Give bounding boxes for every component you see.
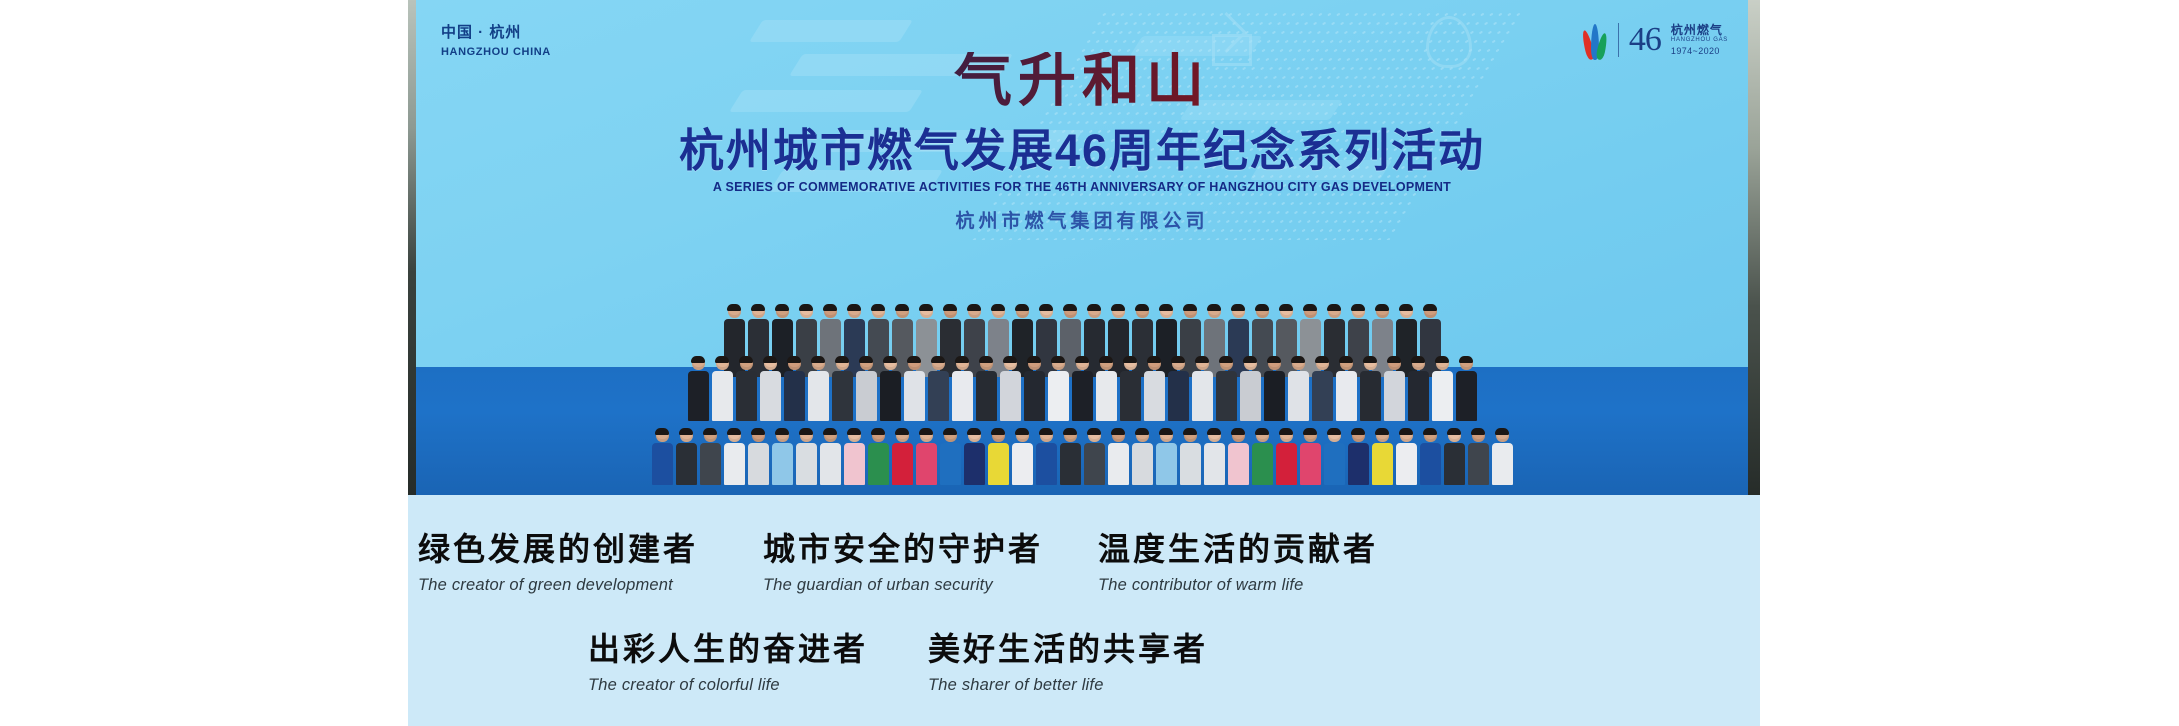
person-silhouette	[951, 356, 973, 421]
slogan-cn: 出彩人生的奋进者	[588, 631, 868, 668]
person-silhouette	[1191, 356, 1213, 421]
person-silhouette	[1419, 428, 1441, 485]
person-silhouette	[1323, 428, 1345, 485]
person-silhouette	[1287, 356, 1309, 421]
person-silhouette	[1023, 356, 1045, 421]
person-silhouette	[1131, 428, 1153, 485]
person-silhouette	[1167, 356, 1189, 421]
person-silhouette	[723, 428, 745, 485]
brand-name-cn: 杭州燃气	[1671, 23, 1728, 37]
person-silhouette	[1155, 428, 1177, 485]
slogan-item: 美好生活的共享者 The sharer of better life	[928, 631, 1208, 695]
commemorative-poster: 中国 · 杭州 HANGZHOU CHINA 46 杭州燃气 HANGZHOU …	[408, 0, 1760, 726]
person-silhouette	[1239, 356, 1261, 421]
person-silhouette	[831, 356, 853, 421]
person-silhouette	[1143, 356, 1165, 421]
person-silhouette	[1275, 428, 1297, 485]
person-silhouette	[1119, 356, 1141, 421]
person-silhouette	[1491, 428, 1513, 485]
slogan-cn: 美好生活的共享者	[928, 631, 1208, 668]
person-silhouette	[1311, 356, 1333, 421]
person-silhouette	[699, 428, 721, 485]
person-silhouette	[1047, 356, 1069, 421]
people-row-front	[416, 428, 1748, 485]
person-silhouette	[819, 428, 841, 485]
theme-calligraphy: 气升和山	[416, 52, 1748, 110]
person-silhouette	[1383, 356, 1405, 421]
person-silhouette	[963, 428, 985, 485]
person-silhouette	[891, 428, 913, 485]
person-silhouette	[1071, 356, 1093, 421]
brand-name-en: HANGZHOU GAS	[1671, 37, 1728, 44]
slogan-en: The contributor of warm life	[1098, 576, 1378, 595]
slogan-en: The guardian of urban security	[763, 576, 1043, 595]
person-silhouette	[915, 428, 937, 485]
person-silhouette	[1083, 428, 1105, 485]
person-silhouette	[687, 356, 709, 421]
people-row-middle	[416, 356, 1748, 421]
person-silhouette	[1443, 428, 1465, 485]
person-silhouette	[1203, 428, 1225, 485]
person-silhouette	[1347, 428, 1369, 485]
person-silhouette	[1179, 428, 1201, 485]
slogan-en: The creator of colorful life	[588, 676, 868, 695]
person-silhouette	[1455, 356, 1477, 421]
person-silhouette	[1059, 428, 1081, 485]
person-silhouette	[1251, 428, 1273, 485]
person-silhouette	[867, 428, 889, 485]
person-silhouette	[1035, 428, 1057, 485]
person-silhouette	[1263, 356, 1285, 421]
person-silhouette	[999, 356, 1021, 421]
location-cn: 中国 · 杭州	[441, 24, 551, 43]
person-silhouette	[1431, 356, 1453, 421]
person-silhouette	[1215, 356, 1237, 421]
person-silhouette	[759, 356, 781, 421]
slogan-cn: 绿色发展的创建者	[418, 531, 698, 568]
slogan-cn: 温度生活的贡献者	[1098, 531, 1378, 568]
person-silhouette	[783, 356, 805, 421]
people-group	[416, 170, 1748, 495]
slogan-item: 出彩人生的奋进者 The creator of colorful life	[588, 631, 868, 695]
person-silhouette	[879, 356, 901, 421]
person-silhouette	[975, 356, 997, 421]
person-silhouette	[855, 356, 877, 421]
person-silhouette	[795, 428, 817, 485]
person-silhouette	[1395, 428, 1417, 485]
person-silhouette	[939, 428, 961, 485]
person-silhouette	[675, 428, 697, 485]
person-silhouette	[843, 428, 865, 485]
person-silhouette	[1467, 428, 1489, 485]
person-silhouette	[651, 428, 673, 485]
person-silhouette	[807, 356, 829, 421]
person-silhouette	[1299, 428, 1321, 485]
person-silhouette	[927, 356, 949, 421]
person-silhouette	[903, 356, 925, 421]
slogan-en: The sharer of better life	[928, 676, 1208, 695]
slogan-cn: 城市安全的守护者	[763, 531, 1043, 568]
person-silhouette	[1095, 356, 1117, 421]
slogan-panel: 绿色发展的创建者 The creator of green developmen…	[408, 495, 1760, 726]
person-silhouette	[735, 356, 757, 421]
group-photo: 中国 · 杭州 HANGZHOU CHINA 46 杭州燃气 HANGZHOU …	[408, 0, 1760, 495]
person-silhouette	[747, 428, 769, 485]
person-silhouette	[1371, 428, 1393, 485]
person-silhouette	[1335, 356, 1357, 421]
person-silhouette	[1011, 428, 1033, 485]
person-silhouette	[711, 356, 733, 421]
slogan-en: The creator of green development	[418, 576, 698, 595]
event-title-cn: 杭州城市燃气发展46周年纪念系列活动	[416, 126, 1748, 176]
person-silhouette	[1407, 356, 1429, 421]
person-silhouette	[771, 428, 793, 485]
person-silhouette	[1107, 428, 1129, 485]
slogan-item: 绿色发展的创建者 The creator of green developmen…	[418, 531, 698, 595]
slogan-item: 温度生活的贡献者 The contributor of warm life	[1098, 531, 1378, 595]
person-silhouette	[1227, 428, 1249, 485]
slogan-item: 城市安全的守护者 The guardian of urban security	[763, 531, 1043, 595]
person-silhouette	[1359, 356, 1381, 421]
page-root: 中国 · 杭州 HANGZHOU CHINA 46 杭州燃气 HANGZHOU …	[0, 0, 2179, 726]
person-silhouette	[987, 428, 1009, 485]
